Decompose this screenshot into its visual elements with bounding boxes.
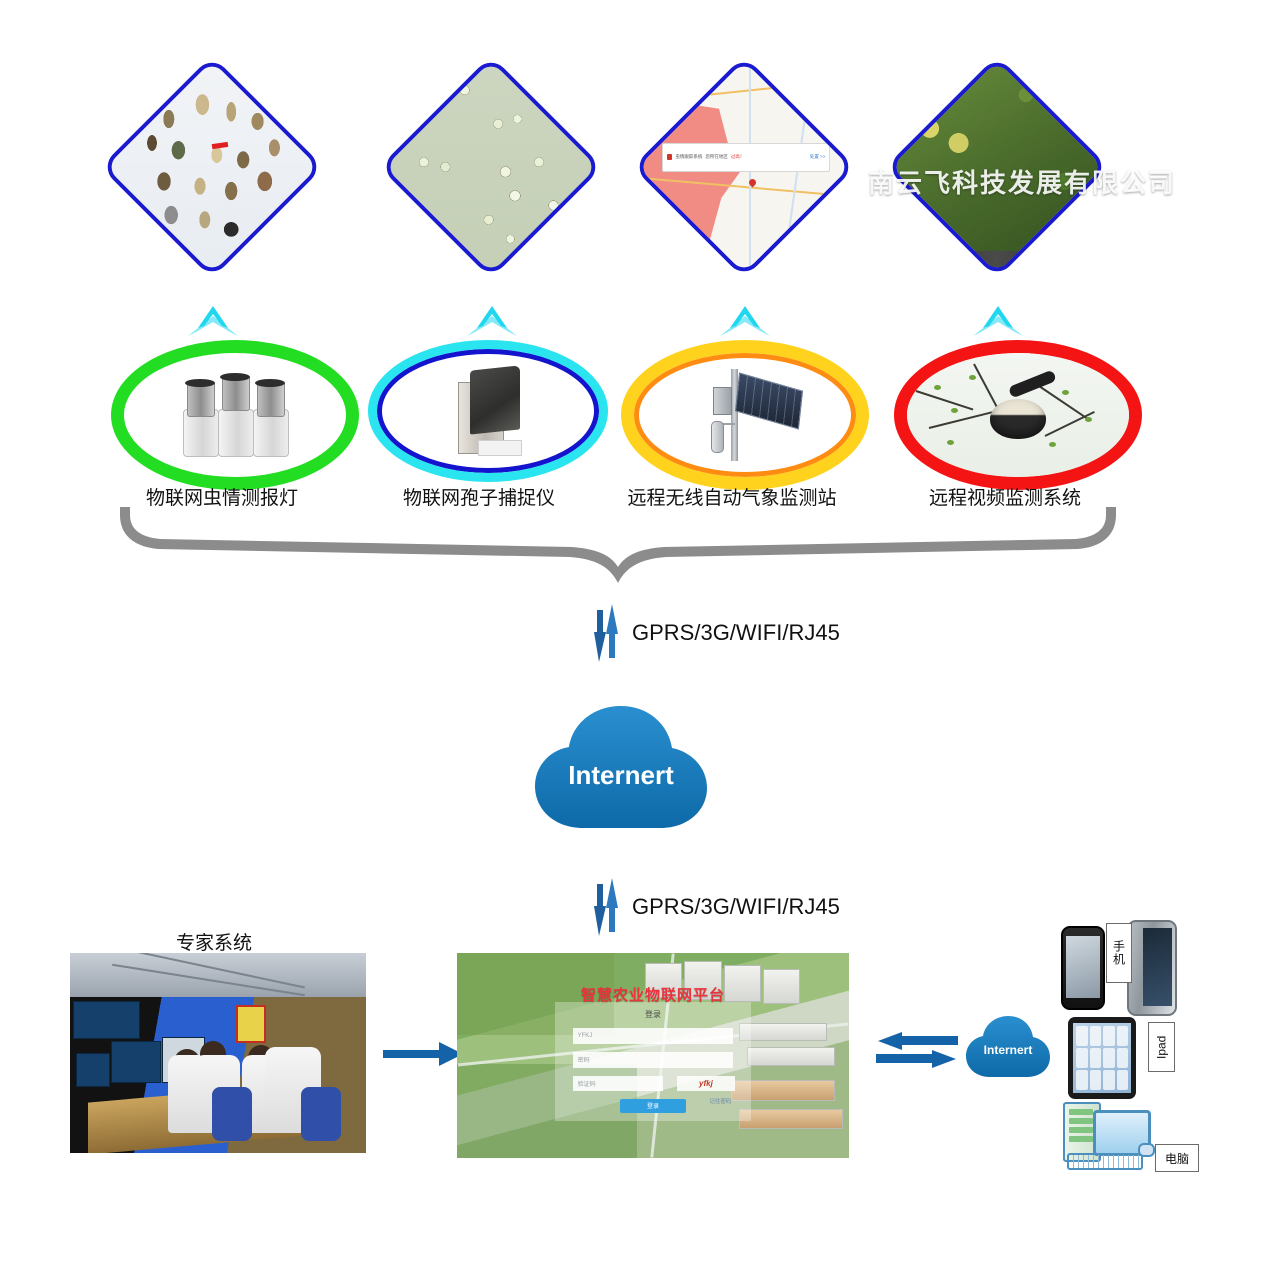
dome-camera-icon [907,353,1129,477]
insect-trap-lamp-icon [181,373,289,457]
client-label-tablet: Ipad [1148,1022,1175,1072]
camera-osd-strip [885,251,1108,273]
uplink-arrow-insect-lamp [170,306,256,340]
desktop-computer-icon [1063,1102,1155,1170]
control-room-photo [70,953,366,1153]
map-alert-callout: 虫情跟踪系统 您所在地区 过高！ 处置 >> [662,143,830,172]
link-field-to-internet: GPRS/3G/WIFI/RJ45 [592,604,840,662]
client-label-phone: 手机 [1106,923,1132,983]
phone-back-icon [1127,920,1177,1016]
username-input[interactable]: YFKJ [573,1028,734,1043]
uplink-arrow-spore-trap [449,306,535,340]
bidirectional-arrow-icon [592,878,620,936]
phone-front-icon [1061,926,1105,1010]
map-action-link[interactable]: 处置 >> [810,154,826,160]
tablet-icon [1068,1017,1136,1099]
bidirectional-arrow-icon [592,604,620,662]
aggregation-brace [118,505,1118,585]
link-label-field-to-internet: GPRS/3G/WIFI/RJ45 [632,620,840,646]
device-icon-insect-trap-lamp[interactable] [111,340,359,490]
svg-text:Internert: Internert [568,760,674,790]
svg-text:Internert: Internert [984,1043,1033,1057]
device-icon-spore-collector[interactable] [368,340,608,482]
client-label-desktop: 电脑 [1155,1144,1199,1172]
map-alert-highlight: 过高！ [731,154,745,160]
login-submit-button[interactable]: 登录 [620,1099,687,1113]
farm-aerial-photo: 智慧农业物联网平台 登录 YFKJ 密码 验证码 yfkj 记住密码 登录 [457,953,849,1158]
internet-cloud: Internert [521,700,721,840]
uplink-arrow-weather-station [702,306,788,340]
link-internet-to-platform: GPRS/3G/WIFI/RJ45 [592,878,840,936]
captcha-image[interactable]: yfkj [677,1076,736,1091]
platform-login-panel: 登录 YFKJ 密码 验证码 yfkj 记住密码 登录 [555,1002,751,1121]
link-label-internet-to-platform: GPRS/3G/WIFI/RJ45 [632,894,840,920]
map-alert-text: 您所在地区 [705,154,728,160]
sensor-photo-insect-lamp [100,55,323,278]
login-heading: 登录 [555,1009,751,1020]
sensor-photo-spore-trap [379,55,602,278]
spore-microscopy-photo [379,55,602,278]
spore-collector-cabinet-icon [452,368,524,454]
sensor-photo-weather-station: 虫情跟踪系统 您所在地区 过高！ 处置 >> [632,55,855,278]
password-input[interactable]: 密码 [573,1052,734,1067]
captcha-input[interactable]: 验证码 [573,1076,663,1091]
device-icon-weather-station[interactable] [621,340,869,490]
solar-weather-station-icon [685,369,805,461]
arrow-expert-to-platform [383,1040,463,1073]
map-red-zone [638,100,753,249]
arrow-platform-to-clients [876,1032,958,1077]
pest-distribution-map-photo: 虫情跟踪系统 您所在地区 过高！ 处置 >> [632,55,855,278]
internet-cloud-clients: Internert [960,1013,1056,1083]
remember-password-checkbox[interactable]: 记住密码 [709,1097,731,1105]
map-system-name: 虫情跟踪系统 [675,154,702,160]
expert-system-label: 专家系统 [176,928,252,955]
diagram-canvas: 虫情跟踪系统 您所在地区 过高！ 处置 >> 南云飞科技发展有限公司 [0,0,1269,1269]
uplink-arrow-video-monitor [955,306,1041,340]
alert-icon [667,154,672,160]
insect-trap-specimen-photo [100,55,323,278]
company-watermark: 南云飞科技发展有限公司 [868,163,1188,200]
device-icon-dome-camera[interactable] [894,340,1142,490]
